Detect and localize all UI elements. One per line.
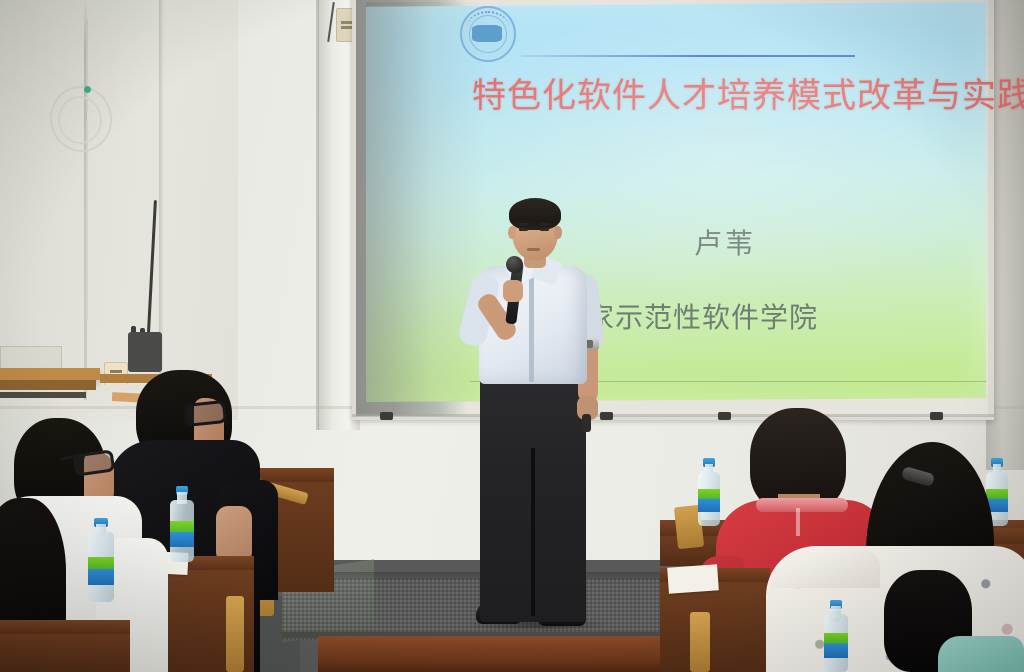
desk-rail-front bbox=[690, 612, 710, 672]
university-emblem-icon bbox=[460, 6, 516, 62]
speaker-ear-left bbox=[508, 226, 516, 239]
eyeglasses-icon bbox=[183, 400, 227, 427]
screen-bracket bbox=[718, 412, 731, 420]
wooden-ledge-under bbox=[0, 380, 96, 390]
blouse-shoulder bbox=[770, 548, 880, 588]
wooden-ledge bbox=[0, 368, 100, 380]
slide-presenter-name: 卢苇 bbox=[694, 222, 756, 262]
speaker-mouth bbox=[527, 248, 540, 251]
desk-body-front bbox=[660, 582, 770, 672]
cable-tail bbox=[86, 120, 88, 320]
water-bottle bbox=[824, 600, 848, 672]
speaker-eye-left bbox=[519, 228, 528, 231]
stage-front-face bbox=[318, 636, 718, 672]
desk-body-foreground bbox=[0, 634, 130, 672]
screen-bracket bbox=[600, 412, 613, 420]
slide-title: 特色化软件人才培养模式改革与实践 bbox=[472, 68, 992, 117]
bottle-label bbox=[698, 489, 720, 512]
cable-connector-tip bbox=[84, 86, 91, 93]
shirt-placket bbox=[529, 272, 534, 382]
bottle-label bbox=[88, 557, 114, 586]
water-bottle bbox=[88, 518, 114, 602]
speaker-hand-left bbox=[503, 280, 523, 302]
antenna-radio-unit bbox=[128, 332, 162, 372]
shelf-shadow bbox=[0, 392, 86, 398]
speaker-brow-left bbox=[518, 223, 529, 225]
speaker-hair bbox=[509, 198, 561, 230]
emblem-mark bbox=[474, 25, 500, 42]
screen-bracket bbox=[380, 412, 393, 420]
water-bottle bbox=[698, 458, 720, 526]
speaker-ear-right bbox=[554, 226, 562, 239]
bottle-label bbox=[170, 521, 194, 547]
bottle-label bbox=[824, 633, 848, 657]
speaker-brow-right bbox=[539, 223, 550, 225]
slide-title-rule bbox=[521, 55, 855, 57]
wall-column-edge bbox=[316, 0, 319, 430]
screen-bracket bbox=[930, 412, 943, 420]
polo-placket bbox=[796, 508, 800, 536]
lecture-hall-photo: 特色化软件人才培养模式改革与实践 卢苇 通大学国家示范性软件学院 bbox=[0, 0, 1024, 672]
paper-notes bbox=[667, 564, 719, 593]
desk-top-foreground bbox=[0, 620, 130, 634]
projected-slide bbox=[366, 2, 986, 402]
screen-bottom-edge bbox=[352, 414, 994, 417]
desk-rail-left-front bbox=[226, 596, 244, 672]
speaker-leg-gap bbox=[531, 448, 535, 616]
polo-collar bbox=[756, 498, 848, 512]
attendee-teal-shoulder bbox=[938, 636, 1024, 672]
water-bottle bbox=[170, 486, 194, 562]
presentation-clicker-icon bbox=[582, 414, 591, 432]
speaker-eye-right bbox=[540, 228, 549, 231]
